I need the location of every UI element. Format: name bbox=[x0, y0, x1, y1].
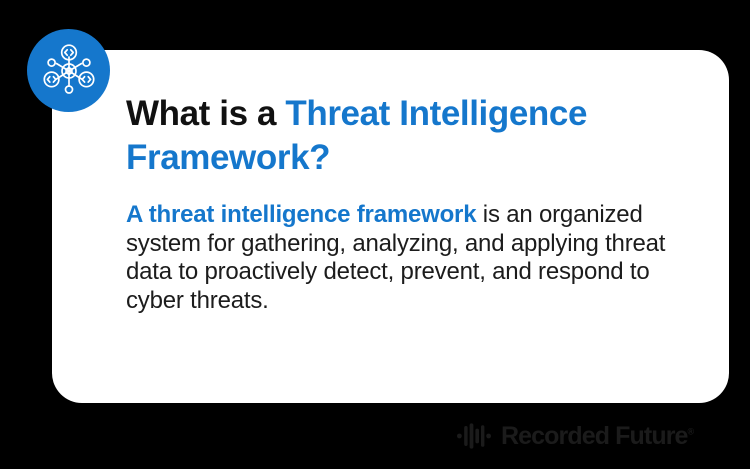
recorded-future-logo: Recorded Future® bbox=[457, 420, 694, 452]
network-nodes-icon bbox=[27, 29, 110, 112]
recorded-future-wordmark: Recorded Future® bbox=[501, 424, 694, 449]
recorded-future-barcode-mark bbox=[457, 423, 495, 449]
definition-paragraph: A threat intelligence framework is an or… bbox=[126, 201, 686, 315]
wordmark-text: Recorded Future bbox=[501, 422, 688, 450]
definition-lead-term: A threat intelligence framework bbox=[126, 201, 476, 228]
slide-canvas: What is a Threat Intelligence Framework?… bbox=[0, 0, 750, 469]
page-title: What is a Threat Intelligence Framework? bbox=[126, 92, 666, 180]
page-title-prefix: What is a bbox=[126, 94, 285, 133]
registered-trademark-symbol: ® bbox=[688, 426, 695, 436]
network-nodes-glyph bbox=[39, 41, 99, 101]
